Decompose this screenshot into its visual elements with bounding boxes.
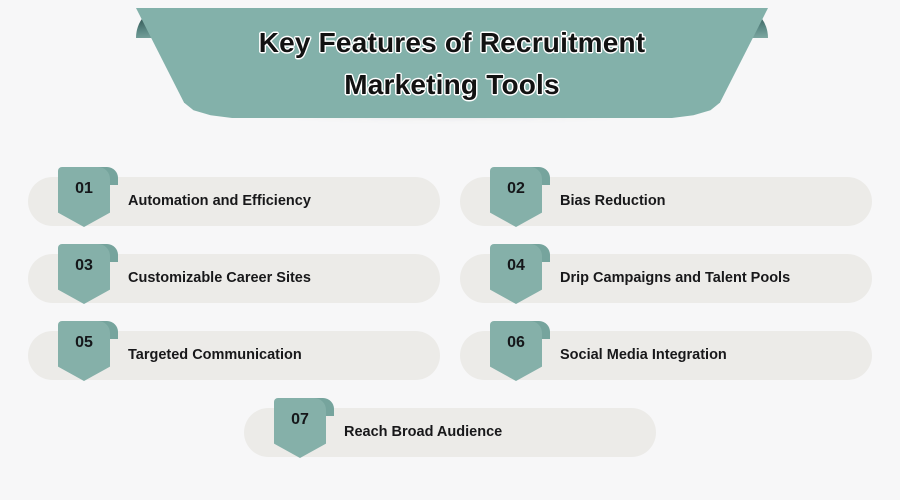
feature-label-04: Drip Campaigns and Talent Pools xyxy=(560,254,790,303)
feature-label-06: Social Media Integration xyxy=(560,331,727,380)
number-badge-07: 07 xyxy=(274,398,326,458)
badge-number-label: 01 xyxy=(58,167,110,211)
feature-label-05: Targeted Communication xyxy=(128,331,302,380)
badge-number-label: 04 xyxy=(490,244,542,288)
badge-number-label: 06 xyxy=(490,321,542,365)
feature-label-07: Reach Broad Audience xyxy=(344,408,502,457)
feature-label-03: Customizable Career Sites xyxy=(128,254,311,303)
number-badge-01: 01 xyxy=(58,167,110,227)
feature-row-07[interactable]: 07 Reach Broad Audience xyxy=(244,408,656,457)
feature-label-01: Automation and Efficiency xyxy=(128,177,311,226)
badge-number-label: 07 xyxy=(274,398,326,442)
feature-row-01[interactable]: 01 Automation and Efficiency xyxy=(28,177,440,226)
number-badge-02: 02 xyxy=(490,167,542,227)
feature-row-03[interactable]: 03 Customizable Career Sites xyxy=(28,254,440,303)
badge-number-label: 02 xyxy=(490,167,542,211)
number-badge-03: 03 xyxy=(58,244,110,304)
badge-number-label: 03 xyxy=(58,244,110,288)
feature-row-04[interactable]: 04 Drip Campaigns and Talent Pools xyxy=(460,254,872,303)
number-badge-04: 04 xyxy=(490,244,542,304)
number-badge-05: 05 xyxy=(58,321,110,381)
badge-number-label: 05 xyxy=(58,321,110,365)
feature-row-05[interactable]: 05 Targeted Communication xyxy=(28,331,440,380)
infographic-canvas: Key Features of Recruitment Marketing To… xyxy=(0,0,900,500)
feature-row-06[interactable]: 06 Social Media Integration xyxy=(460,331,872,380)
number-badge-06: 06 xyxy=(490,321,542,381)
feature-list: 01 Automation and Efficiency 02 Bias Red… xyxy=(0,0,900,500)
feature-row-02[interactable]: 02 Bias Reduction xyxy=(460,177,872,226)
feature-label-02: Bias Reduction xyxy=(560,177,666,226)
